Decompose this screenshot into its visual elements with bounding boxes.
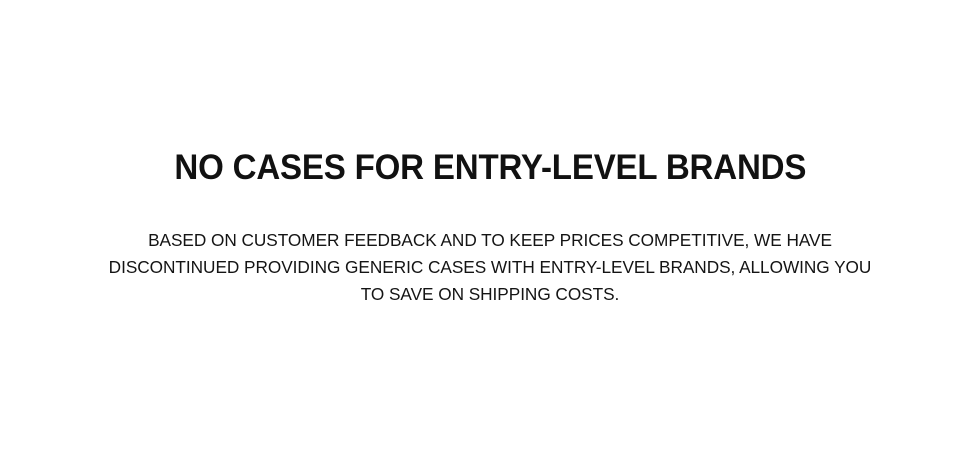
policy-notice-section: NO CASES FOR ENTRY-LEVEL BRANDS BASED ON… [0,0,980,450]
notice-body-container: BASED ON CUSTOMER FEEDBACK AND TO KEEP P… [90,227,890,308]
page-title: NO CASES FOR ENTRY-LEVEL BRANDS [174,151,806,185]
notice-description: BASED ON CUSTOMER FEEDBACK AND TO KEEP P… [96,227,884,308]
